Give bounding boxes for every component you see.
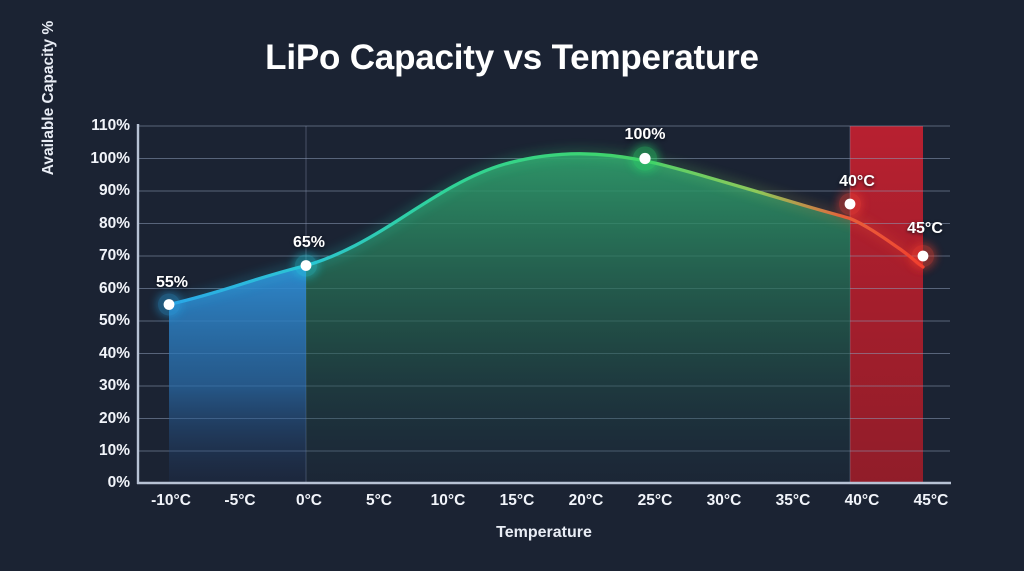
chart-container: LiPo Capacity vs Temperature Available C… <box>0 0 1024 571</box>
x-tick-5: 5°C <box>366 492 392 510</box>
y-tick-110: 110% <box>74 117 130 135</box>
x-tick-minus5: -5°C <box>224 492 255 510</box>
plot-area <box>0 0 1024 571</box>
x-tick-10: 10°C <box>431 492 466 510</box>
y-tick-60: 60% <box>74 280 130 298</box>
x-tick-40: 40°C <box>845 492 880 510</box>
x-tick-35: 35°C <box>776 492 811 510</box>
label-danger-point: 45°C <box>907 220 943 238</box>
y-tick-50: 50% <box>74 312 130 330</box>
x-tick-minus10: -10°C <box>151 492 191 510</box>
y-tick-40: 40% <box>74 345 130 363</box>
x-tick-25: 25°C <box>638 492 673 510</box>
y-tick-20: 20% <box>74 410 130 428</box>
x-tick-30: 30°C <box>707 492 742 510</box>
y-tick-90: 90% <box>74 182 130 200</box>
y-tick-80: 80% <box>74 215 130 233</box>
label-freezing-point: 65% <box>293 234 325 252</box>
y-tick-70: 70% <box>74 247 130 265</box>
y-tick-100: 100% <box>74 150 130 168</box>
area-fill-warm <box>306 154 850 483</box>
label-warning-point: 40°C <box>839 173 875 191</box>
x-tick-15: 15°C <box>500 492 535 510</box>
x-tick-0: 0°C <box>296 492 322 510</box>
y-tick-30: 30% <box>74 377 130 395</box>
y-tick-10: 10% <box>74 442 130 460</box>
label-optimal-peak: 100% <box>625 126 666 144</box>
y-axis-ticks: 110% 100% 90% 80% 70% 60% 50% 40% 30% 20… <box>72 0 130 571</box>
x-tick-45: 45°C <box>914 492 949 510</box>
x-axis-title: Temperature <box>138 524 950 542</box>
label-cold-point: 55% <box>156 274 188 292</box>
x-tick-20: 20°C <box>569 492 604 510</box>
y-tick-0: 0% <box>74 474 130 492</box>
